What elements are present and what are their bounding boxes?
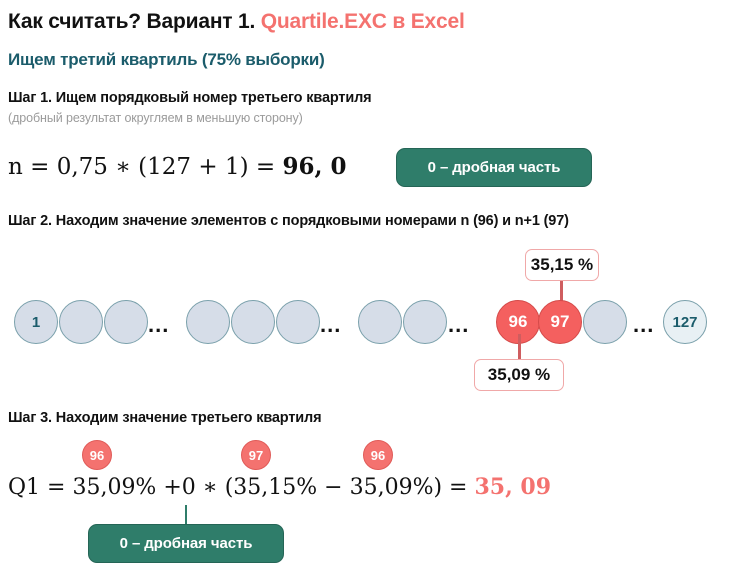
ellipsis-separator: ... bbox=[448, 314, 469, 336]
step3-index-badge-3: 96 bbox=[363, 440, 393, 470]
element-circle bbox=[59, 300, 103, 344]
step2-connector-bottom bbox=[518, 334, 521, 359]
page-title-accent: Quartile.EXC в Excel bbox=[261, 10, 465, 33]
step2-element-row: 19697127............ bbox=[0, 300, 730, 346]
step2-callout-bottom: 35,09 % bbox=[474, 359, 564, 391]
step2-heading: Шаг 2. Находим значение элементов с поря… bbox=[8, 213, 569, 229]
step1-formula-expression: n = 0,75 ∗ (127 + 1) = bbox=[8, 154, 282, 180]
page-title-dark: Как считать? Вариант 1. bbox=[8, 10, 255, 33]
element-circle-97: 97 bbox=[538, 300, 582, 344]
step1-formula-result: 96, 0 bbox=[282, 153, 346, 180]
element-circle bbox=[403, 300, 447, 344]
element-circle bbox=[276, 300, 320, 344]
step3-index-badge-2: 97 bbox=[241, 440, 271, 470]
ellipsis-separator: ... bbox=[633, 314, 654, 336]
step3-formula-expression: Q1 = 35,09% +0 ∗ (35,15% − 35,09%) = bbox=[8, 475, 474, 500]
page-title: Как считать? Вариант 1. Quartile.EXC в E… bbox=[8, 10, 465, 34]
step1-note: (дробный результат округляем в меньшую с… bbox=[8, 111, 303, 125]
step3-connector bbox=[185, 505, 187, 525]
element-circle bbox=[358, 300, 402, 344]
element-circle bbox=[583, 300, 627, 344]
ellipsis-separator: ... bbox=[148, 314, 169, 336]
element-circle bbox=[186, 300, 230, 344]
step2-callout-top: 35,15 % bbox=[525, 249, 599, 281]
ellipsis-separator: ... bbox=[320, 314, 341, 336]
page-subtitle: Ищем третий квартиль (75% выборки) bbox=[8, 50, 325, 70]
step3-fraction-callout: 0 – дробная часть bbox=[88, 524, 284, 563]
element-circle-127: 127 bbox=[663, 300, 707, 344]
element-circle bbox=[231, 300, 275, 344]
step1-formula: n = 0,75 ∗ (127 + 1) = 96, 0 bbox=[8, 153, 346, 180]
step3-heading: Шаг 3. Находим значение третьего квартил… bbox=[8, 410, 321, 426]
element-circle-1: 1 bbox=[14, 300, 58, 344]
step1-heading: Шаг 1. Ищем порядковый номер третьего кв… bbox=[8, 90, 371, 106]
step3-formula: Q1 = 35,09% +0 ∗ (35,15% − 35,09%) = 35,… bbox=[8, 474, 551, 500]
step3-formula-result: 35, 09 bbox=[474, 474, 551, 500]
step3-index-badge-1: 96 bbox=[82, 440, 112, 470]
step1-fraction-callout: 0 – дробная часть bbox=[396, 148, 592, 187]
element-circle bbox=[104, 300, 148, 344]
